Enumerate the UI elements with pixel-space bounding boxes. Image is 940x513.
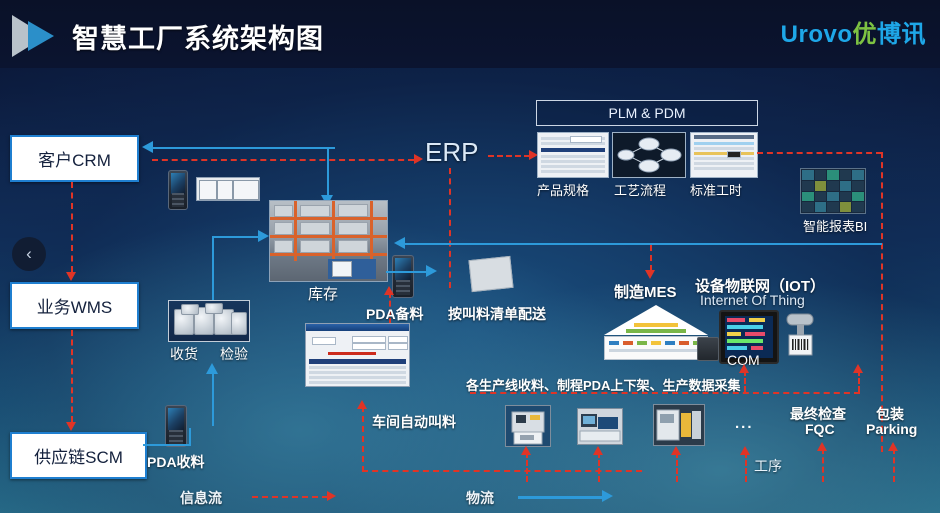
arrow-wms-to-scm-head <box>66 422 76 431</box>
page-title: 智慧工厂系统架构图 <box>72 17 324 56</box>
arrow-workshop-call-head <box>357 400 367 409</box>
erp-window-icon[interactable] <box>305 323 410 387</box>
architecture-diagram-canvas: 智慧工厂系统架构图 Urovo优博讯 ‹ 客户CRM 业务WMS 供应链SCM … <box>0 0 940 513</box>
delivery-by-list-label: 按叫料清单配送 <box>448 304 546 324</box>
node-business-wms-label: 业务WMS <box>37 293 113 318</box>
node-supply-chain-scm-label: 供应链SCM <box>34 443 123 468</box>
play-triangle-logo-icon <box>12 15 64 57</box>
arrow-up-machine-1 <box>526 452 528 482</box>
receive-label: 收货 <box>170 344 198 364</box>
arrow-workshop-call-v <box>362 406 364 472</box>
arrow-material-return-long <box>402 243 882 245</box>
legend-material-flow-line <box>518 496 604 499</box>
workshop-auto-call-label: 车间自动叫料 <box>372 412 456 432</box>
plm-item-0-label: 产品规格 <box>537 180 589 199</box>
arrow-line-note-up-head <box>853 364 863 373</box>
process-flow-icon <box>613 133 685 177</box>
picking-list-icon <box>468 256 513 292</box>
fqc-label-en: FQC <box>805 421 835 437</box>
arrow-crm-to-erp-head <box>414 154 423 164</box>
plm-item-1-label: 工艺流程 <box>614 180 666 199</box>
machines-ellipsis: ... <box>735 415 754 432</box>
thumbnail-standard-hours[interactable] <box>690 132 758 178</box>
thumbnail-process-flow[interactable] <box>612 132 686 178</box>
legend-material-flow-head <box>602 490 613 502</box>
legend-info-flow-line <box>252 496 328 498</box>
plc-module-icon <box>697 337 719 361</box>
arrow-prepare-right <box>386 271 428 273</box>
brand-name-en: Urovo <box>781 21 853 48</box>
brand-name-cn-accent: 优 <box>853 21 878 48</box>
palletized-goods-icon[interactable] <box>168 300 250 342</box>
arrow-up-machine-3 <box>676 452 678 482</box>
arrow-up-to-pda-prepare-head <box>384 286 394 295</box>
arrow-plm-to-right-rail <box>757 152 882 154</box>
arrow-crm-to-erp <box>152 159 414 161</box>
packing-label-en: Parking <box>866 421 917 437</box>
arrow-line-note-rail <box>470 392 860 394</box>
pda-receive-label: PDA收料 <box>147 452 205 472</box>
bi-dashboard-icon[interactable] <box>800 168 866 214</box>
pda-device-prepare[interactable] <box>392 255 414 298</box>
mes-chart-icon[interactable] <box>604 305 708 360</box>
arrow-workshop-call-h <box>362 470 642 472</box>
back-button[interactable]: ‹ <box>12 237 46 271</box>
arrow-down-to-inventory <box>327 148 329 196</box>
legend-material-flow-label: 物流 <box>466 488 494 508</box>
arrow-erp-down <box>449 168 451 288</box>
arrow-erp-to-plm <box>488 155 530 157</box>
bi-label: 智能报表BI <box>803 216 867 235</box>
arrow-crm-to-wms <box>71 182 73 272</box>
arrow-to-crm-material <box>152 147 335 149</box>
barcode-label-icon <box>196 177 260 201</box>
node-business-wms[interactable]: 业务WMS <box>10 282 139 329</box>
pda-device-receiving-top[interactable] <box>168 170 188 210</box>
node-plm-pdm[interactable]: PLM & PDM <box>536 100 758 126</box>
legend-info-flow-label: 信息流 <box>180 488 222 508</box>
pda-prepare-label: PDA备料 <box>366 304 424 324</box>
machine-icon-1[interactable] <box>505 405 551 447</box>
arrow-to-crm-material-head <box>142 141 153 153</box>
arrow-material-return-head <box>394 237 405 249</box>
arrow-up-to-goods-head <box>206 363 218 374</box>
legend-info-flow-head <box>327 491 336 501</box>
arrow-up-to-goods <box>212 368 214 426</box>
arrow-up-fqc-head <box>817 442 827 451</box>
mes-label: 制造MES <box>614 281 677 302</box>
arrow-line-note-up <box>858 370 860 392</box>
arrow-scm-to-pda <box>143 444 191 446</box>
arrow-up-machine-2-head <box>593 446 603 455</box>
node-supply-chain-scm[interactable]: 供应链SCM <box>10 432 147 479</box>
plm-item-2-label: 标准工时 <box>690 180 742 199</box>
arrow-down-to-mes-head <box>645 270 655 279</box>
machine-icon-2[interactable] <box>577 408 623 445</box>
arrow-goods-to-inventory-head <box>258 230 269 242</box>
arrow-up-machine-4 <box>745 452 747 482</box>
arrow-up-to-com <box>744 370 746 392</box>
arrow-prepare-right-head <box>426 265 437 277</box>
arrow-down-to-mes <box>650 245 652 271</box>
arrow-up-packing-head <box>888 442 898 451</box>
iot-label-en: Internet Of Thing <box>700 292 805 308</box>
pda-device-receive[interactable] <box>165 405 187 447</box>
node-plm-pdm-label: PLM & PDM <box>608 105 685 121</box>
process-label: 工序 <box>754 456 782 476</box>
arrow-up-machine-4-head <box>740 446 750 455</box>
brand-logo: Urovo优博讯 <box>781 14 926 49</box>
machine-icon-3[interactable] <box>653 404 705 446</box>
arrow-up-machine-3-head <box>671 446 681 455</box>
arrow-crm-to-wms-head <box>66 272 76 281</box>
arrow-pda-connector <box>189 428 191 445</box>
node-customer-crm[interactable]: 客户CRM <box>10 135 139 182</box>
node-erp-label: ERP <box>425 137 478 168</box>
thumbnail-product-spec[interactable] <box>537 132 609 178</box>
inventory-label: 库存 <box>308 283 338 304</box>
arrow-up-machine-1-head <box>521 446 531 455</box>
inspect-label: 检验 <box>220 344 248 364</box>
brand-name-cn: 博讯 <box>877 21 926 48</box>
arrow-wms-to-scm <box>71 330 73 422</box>
node-customer-crm-label: 客户CRM <box>38 146 111 171</box>
arrow-up-to-com-head <box>739 364 749 373</box>
barcode-scanner-icon[interactable] <box>783 312 817 360</box>
arrow-up-fqc <box>822 448 824 482</box>
arrow-up-machine-2 <box>598 452 600 482</box>
chevron-left-icon: ‹ <box>26 244 32 264</box>
arrow-up-packing <box>893 448 895 482</box>
arrow-goods-to-inventory-h <box>212 236 260 238</box>
header-bar: 智慧工厂系统架构图 Urovo优博讯 <box>0 0 940 68</box>
warehouse-photo[interactable] <box>269 200 388 282</box>
